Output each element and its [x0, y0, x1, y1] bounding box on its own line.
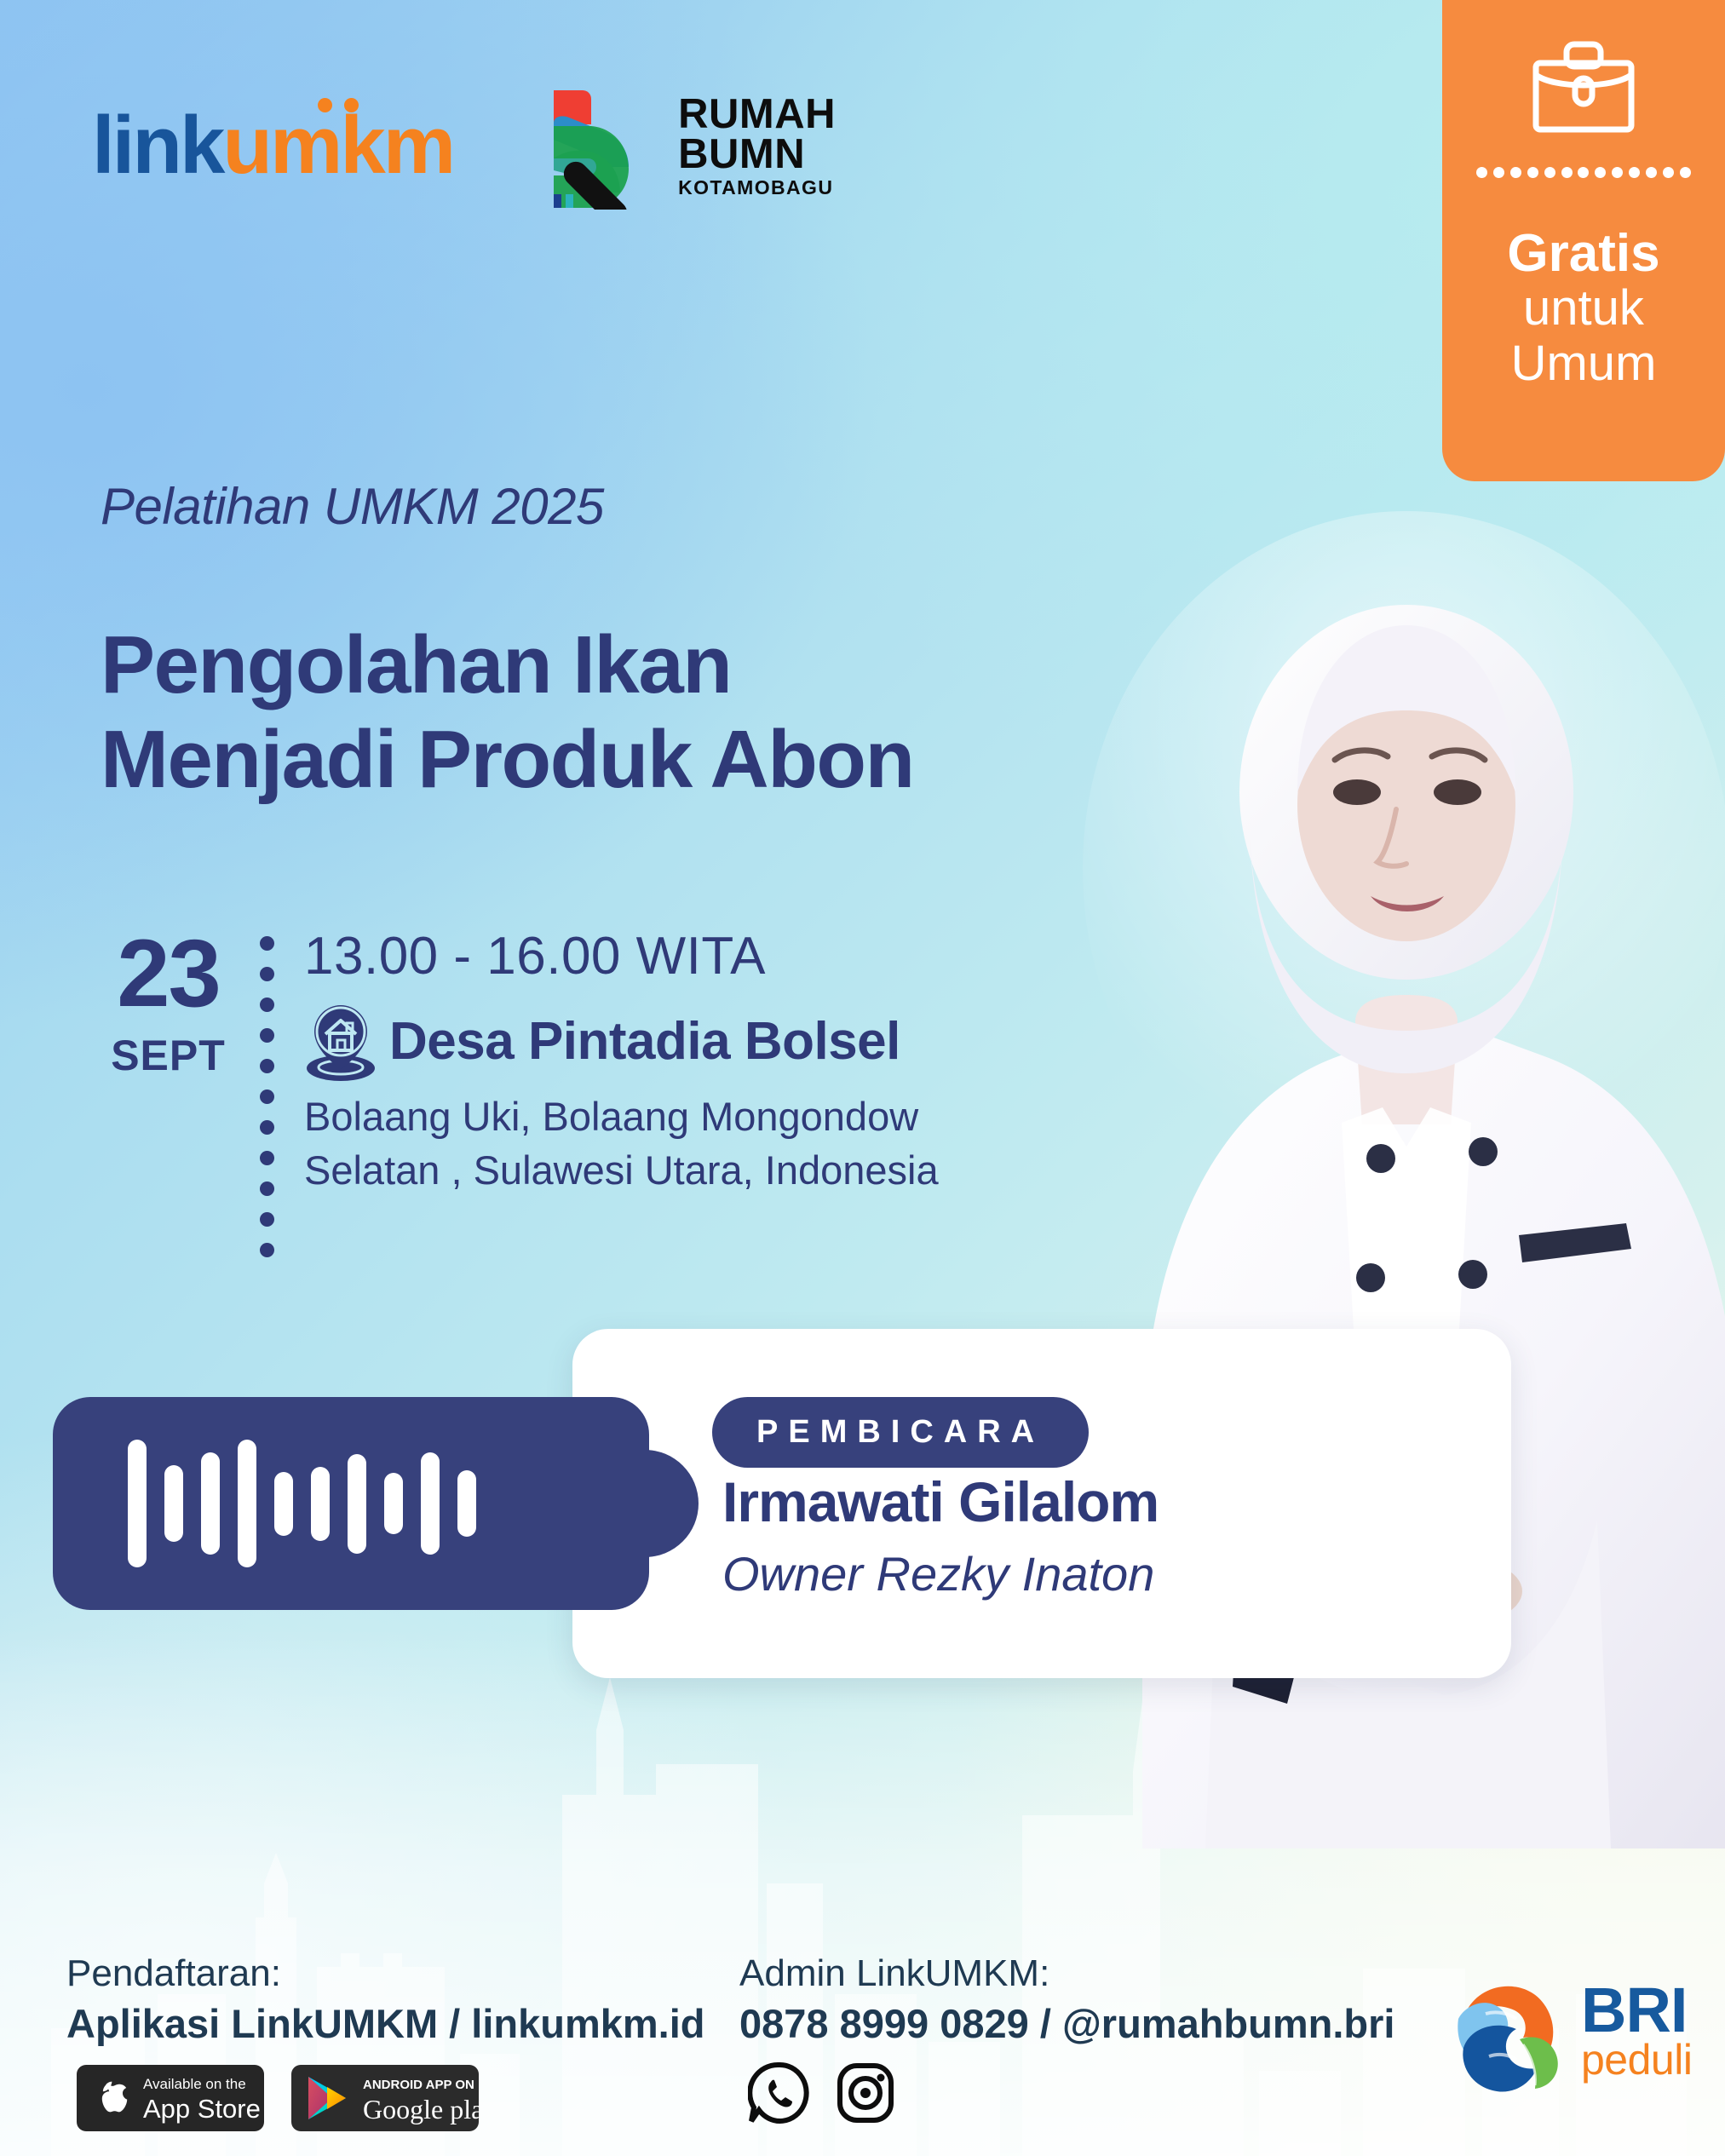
bri-logo-line2: peduli — [1581, 2038, 1692, 2081]
waveform-bar — [164, 1465, 183, 1542]
event-address-line2: Selatan , Sulawesi Utara, Indonesia — [304, 1144, 939, 1196]
event-venue-row: Desa Pintadia Bolsel — [304, 1000, 939, 1082]
waveform-bar — [201, 1452, 220, 1555]
logo-row: linkumkm RUMAH BUMN KOTAMOBAGU — [92, 82, 836, 210]
event-details: 23 SEPT 13.00 - 16.00 WITA Desa Pintadi — [77, 924, 939, 1257]
svg-text:Google play: Google play — [363, 2094, 479, 2124]
speaker-panel-knob — [588, 1450, 699, 1557]
speaker-badge: PEMBICARA — [712, 1397, 1089, 1468]
event-month: SEPT — [77, 1031, 260, 1080]
app-store-badge[interactable]: Available on the App Store — [77, 2065, 264, 2131]
event-kicker: Pelatihan UMKM 2025 — [101, 477, 604, 536]
event-time: 13.00 - 16.00 WITA — [304, 926, 939, 986]
registration-block: Pendaftaran: Aplikasi LinkUMKM / linkumk… — [66, 1952, 705, 2047]
instagram-icon[interactable] — [835, 2060, 896, 2126]
waveform-bar — [311, 1467, 330, 1541]
registration-label: Pendaftaran: — [66, 1952, 705, 1995]
waveform-bar — [421, 1452, 440, 1555]
event-address-line1: Bolaang Uki, Bolaang Mongondow — [304, 1090, 939, 1142]
rumah-bumn-line3: KOTAMOBAGU — [678, 178, 836, 197]
linkumkm-logo-link: link — [92, 100, 222, 191]
event-info-column: 13.00 - 16.00 WITA Desa Pintadia Bolsel … — [304, 924, 939, 1196]
page-title: Pengolahan Ikan Menjadi Produk Abon — [101, 618, 914, 808]
rumah-bumn-line1: RUMAH — [678, 95, 836, 135]
waveform-bar — [238, 1440, 256, 1567]
poster-canvas: linkumkm RUMAH BUMN KOTAMOBAGU — [0, 0, 1725, 2156]
audio-waveform-icon — [128, 1440, 476, 1567]
waveform-bar — [274, 1472, 293, 1536]
bri-peduli-logo: BRI peduli — [1441, 1966, 1692, 2094]
registration-value: Aplikasi LinkUMKM / linkumkm.id — [66, 2000, 705, 2047]
title-line-1: Pengolahan Ikan — [101, 618, 914, 712]
title-line-2: Menjadi Produk Abon — [101, 712, 914, 807]
admin-value: 0878 8999 0829 / @rumahbumn.bri — [739, 2000, 1394, 2047]
admin-block: Admin LinkUMKM: 0878 8999 0829 / @rumahb… — [739, 1952, 1394, 2047]
free-badge-sub1: untuk — [1523, 281, 1644, 336]
event-date: 23 SEPT — [77, 924, 260, 1080]
bri-peduli-mark — [1441, 1966, 1569, 2094]
event-venue: Desa Pintadia Bolsel — [389, 1011, 900, 1072]
briefcase-icon — [1529, 39, 1638, 135]
linkumkm-logo-umkm: umkm — [222, 100, 453, 191]
event-day: 23 — [77, 929, 260, 1017]
free-badge-title: Gratis — [1507, 226, 1659, 281]
svg-text:ANDROID APP ON: ANDROID APP ON — [363, 2078, 474, 2092]
rumah-bumn-mark — [532, 82, 659, 210]
map-pin-house-icon — [304, 1000, 377, 1082]
speaker-name: Irmawati Gilalom — [722, 1469, 1159, 1534]
store-badges: Available on the App Store ANDROID APP O… — [77, 2065, 479, 2131]
waveform-bar — [348, 1454, 366, 1554]
free-badge: Gratis untuk Umum — [1442, 0, 1725, 481]
free-badge-sub2: Umum — [1511, 336, 1657, 392]
rumah-bumn-line2: BUMN — [678, 135, 836, 175]
linkumkm-logo-dots — [318, 98, 359, 112]
waveform-bar — [384, 1473, 403, 1534]
badge-dotted-divider — [1476, 167, 1691, 178]
admin-label: Admin LinkUMKM: — [739, 1952, 1394, 1995]
whatsapp-icon[interactable] — [748, 2060, 811, 2126]
speaker-role: Owner Rezky Inaton — [722, 1546, 1154, 1601]
rumah-bumn-logo: RUMAH BUMN KOTAMOBAGU — [532, 82, 836, 210]
google-play-badge[interactable]: ANDROID APP ON Google play — [291, 2065, 479, 2131]
svg-text:App Store: App Store — [143, 2094, 261, 2124]
waveform-bar — [128, 1440, 147, 1567]
bri-logo-line1: BRI — [1581, 1979, 1692, 2042]
vertical-dotted-divider — [260, 924, 282, 1257]
app-store-small: Available on the — [143, 2076, 246, 2092]
linkumkm-logo: linkumkm — [92, 105, 453, 187]
waveform-bar — [457, 1470, 476, 1537]
social-icons — [748, 2060, 896, 2126]
